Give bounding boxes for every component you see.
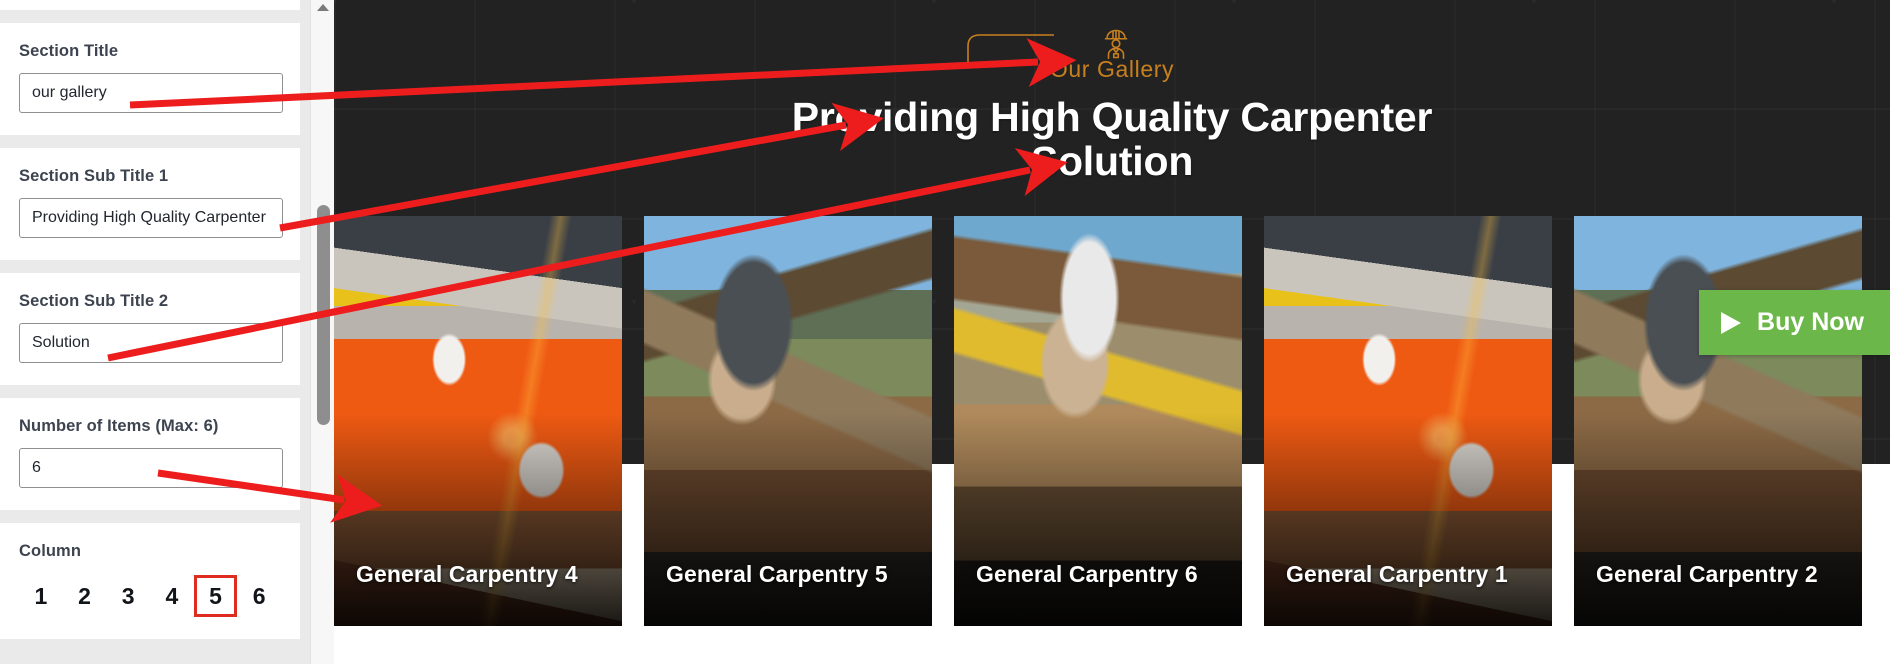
section-sub-title-1-input[interactable] bbox=[19, 198, 283, 238]
section-sub-title-2-input[interactable] bbox=[19, 323, 283, 363]
column-option-group: 1 2 3 4 5 6 bbox=[19, 575, 281, 617]
buy-now-label: Buy Now bbox=[1757, 308, 1864, 337]
buy-now-button[interactable]: Buy Now bbox=[1699, 290, 1890, 355]
number-of-items-input[interactable] bbox=[19, 448, 283, 488]
gallery-card[interactable]: General Carpentry 1 bbox=[1264, 216, 1552, 626]
panel-number-of-items: Number of Items (Max: 6) bbox=[0, 398, 300, 510]
column-option-6[interactable]: 6 bbox=[237, 575, 281, 617]
panel-section-sub-title-2: Section Sub Title 2 bbox=[0, 273, 300, 385]
play-triangle-icon bbox=[1721, 312, 1741, 334]
gallery-hero: Our Gallery Providing High Quality Carpe… bbox=[334, 0, 1890, 184]
eyebrow-curve-decoration bbox=[966, 30, 1054, 64]
sidebar-scrollbar[interactable] bbox=[310, 0, 334, 664]
scrollbar-thumb[interactable] bbox=[317, 205, 330, 425]
gallery-card-caption: General Carpentry 1 bbox=[1286, 561, 1508, 588]
page-title-line-1: Providing High Quality Carpenter bbox=[792, 94, 1433, 140]
panel-column: Column 1 2 3 4 5 6 bbox=[0, 523, 300, 639]
column-option-3[interactable]: 3 bbox=[106, 575, 150, 617]
page-title: Providing High Quality Carpenter Solutio… bbox=[612, 96, 1612, 184]
section-sub-title-1-label: Section Sub Title 1 bbox=[19, 167, 281, 186]
column-option-5[interactable]: 5 bbox=[194, 575, 238, 617]
gallery-card-caption: General Carpentry 6 bbox=[976, 561, 1198, 588]
gallery-card-gradient bbox=[1264, 413, 1552, 626]
column-option-2[interactable]: 2 bbox=[63, 575, 107, 617]
gallery-card-gradient bbox=[644, 413, 932, 626]
gallery-card-gradient bbox=[1574, 413, 1862, 626]
number-of-items-label: Number of Items (Max: 6) bbox=[19, 417, 281, 436]
gallery-card-caption: General Carpentry 5 bbox=[666, 561, 888, 588]
panel-section-title: Section Title bbox=[0, 23, 300, 135]
section-title-input[interactable] bbox=[19, 73, 283, 113]
gallery-eyebrow: Our Gallery bbox=[1050, 56, 1174, 83]
eyebrow-wrap: Our Gallery bbox=[1050, 26, 1174, 86]
panel-section-sub-title-1: Section Sub Title 1 bbox=[0, 148, 300, 260]
gallery-card-gradient bbox=[954, 413, 1242, 626]
gallery-card-row: General Carpentry 4 General Carpentry 5 … bbox=[334, 216, 1890, 626]
panel-stub-top bbox=[0, 0, 300, 10]
gallery-card[interactable]: General Carpentry 2 bbox=[1574, 216, 1862, 626]
gallery-card-caption: General Carpentry 4 bbox=[356, 561, 578, 588]
gallery-card[interactable]: General Carpentry 4 bbox=[334, 216, 622, 626]
page-title-line-2: Solution bbox=[1031, 138, 1193, 184]
settings-sidebar: Section Title Section Sub Title 1 Sectio… bbox=[0, 0, 334, 664]
gallery-card-gradient bbox=[334, 413, 622, 626]
gallery-card[interactable]: General Carpentry 6 bbox=[954, 216, 1242, 626]
app-window: Section Title Section Sub Title 1 Sectio… bbox=[0, 0, 1890, 664]
section-title-label: Section Title bbox=[19, 42, 281, 61]
section-sub-title-2-label: Section Sub Title 2 bbox=[19, 292, 281, 311]
chevron-up-icon[interactable] bbox=[317, 4, 329, 11]
gallery-preview: Our Gallery Providing High Quality Carpe… bbox=[334, 0, 1890, 664]
gallery-card[interactable]: General Carpentry 5 bbox=[644, 216, 932, 626]
column-label: Column bbox=[19, 542, 281, 561]
gallery-card-caption: General Carpentry 2 bbox=[1596, 561, 1818, 588]
column-option-4[interactable]: 4 bbox=[150, 575, 194, 617]
column-option-1[interactable]: 1 bbox=[19, 575, 63, 617]
